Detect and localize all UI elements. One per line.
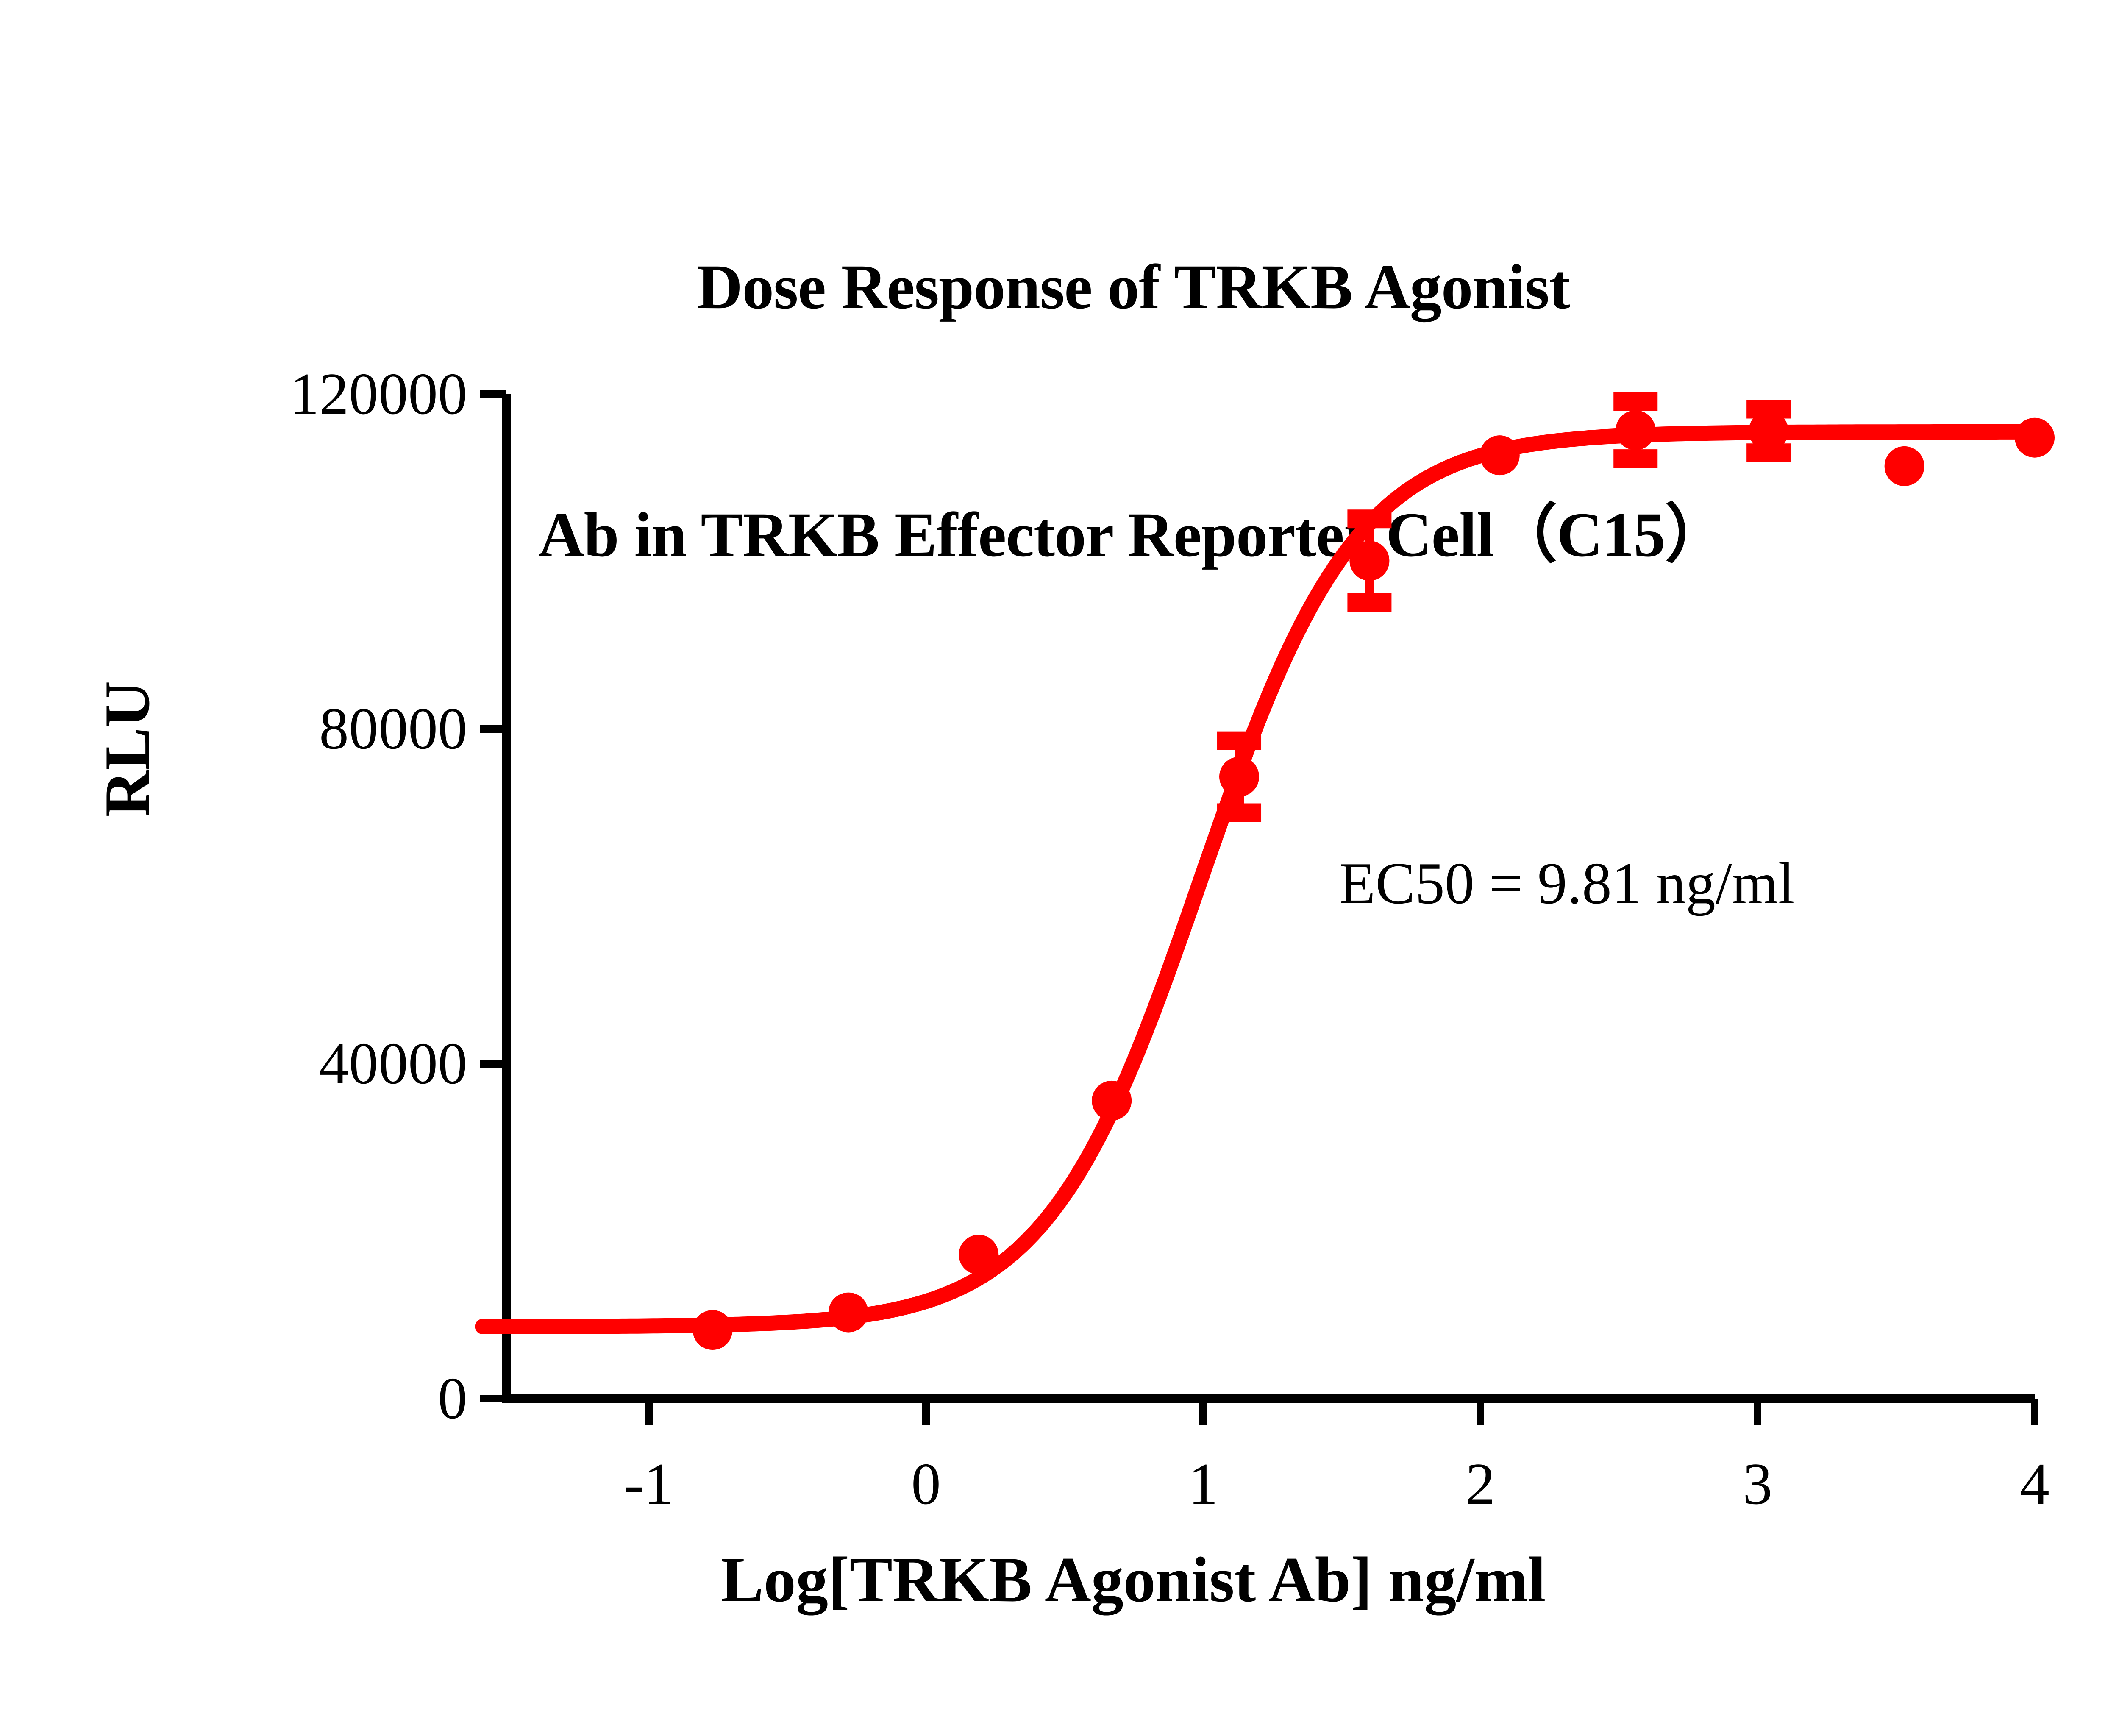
data-point bbox=[2015, 418, 2055, 458]
data-point bbox=[959, 1235, 998, 1274]
data-point bbox=[1480, 435, 1520, 475]
x-tick-label: 3 bbox=[1715, 1455, 1800, 1514]
data-point bbox=[1885, 446, 1924, 486]
data-point bbox=[1349, 541, 1389, 581]
data-point bbox=[1749, 411, 1788, 451]
x-tick-label: 0 bbox=[884, 1455, 968, 1514]
data-point bbox=[1219, 757, 1259, 797]
data-point bbox=[1616, 410, 1655, 450]
y-tick-label: 120000 bbox=[289, 364, 467, 424]
data-point bbox=[692, 1310, 732, 1350]
x-tick-label: 4 bbox=[1992, 1455, 2077, 1514]
data-point bbox=[829, 1293, 868, 1333]
plot-area bbox=[0, 0, 2119, 1736]
data-point bbox=[1092, 1081, 1132, 1121]
fit-curve bbox=[483, 432, 2035, 1327]
y-tick-label: 0 bbox=[438, 1369, 467, 1428]
chart-figure: Dose Response of TRKB Agonist Ab in TRKB… bbox=[0, 0, 2119, 1736]
y-tick-label: 40000 bbox=[319, 1034, 467, 1093]
x-tick-label: 1 bbox=[1161, 1455, 1246, 1514]
x-tick-label: -1 bbox=[606, 1455, 691, 1514]
x-tick-label: 2 bbox=[1438, 1455, 1523, 1514]
y-tick-label: 80000 bbox=[319, 699, 467, 759]
